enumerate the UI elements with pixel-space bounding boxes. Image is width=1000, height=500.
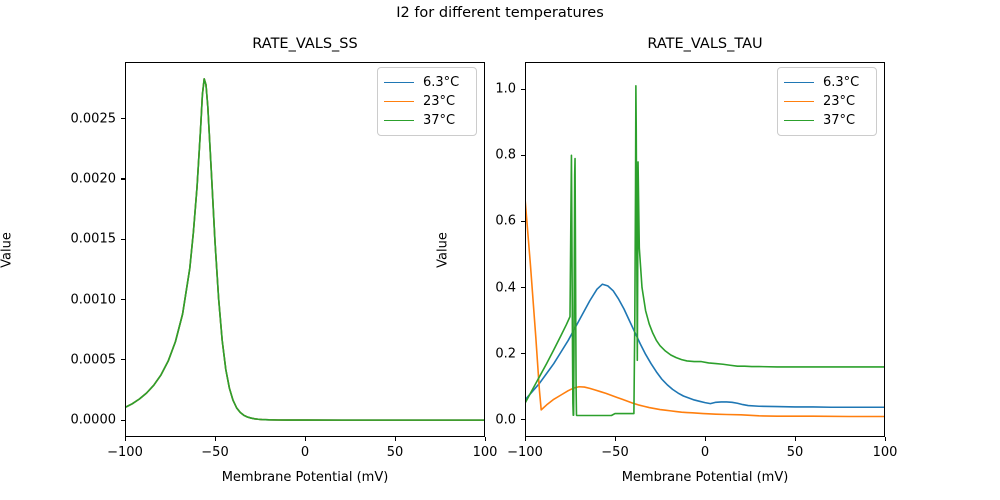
legend-item[interactable]: 23°C (784, 92, 869, 111)
ytick-mark (521, 287, 525, 288)
ytick-label: 0.0000 (15, 413, 116, 428)
xtick-mark (305, 437, 306, 441)
xtick-mark (125, 437, 126, 441)
legend-item[interactable]: 6.3°C (784, 73, 869, 92)
legend-color-swatch (384, 120, 414, 121)
legend-label: 37°C (823, 111, 855, 130)
xtick-mark (885, 437, 886, 441)
xtick-mark (395, 437, 396, 441)
y-axis-label: Value (0, 232, 15, 268)
ytick-mark (521, 221, 525, 222)
ytick-label: 0.0 (415, 412, 516, 427)
matplotlib-figure: I2 for different temperatures RATE_VALS_… (0, 0, 1000, 500)
ytick-mark (521, 89, 525, 90)
xtick-label: 0 (701, 445, 709, 460)
ytick-mark (121, 359, 125, 360)
legend-label: 6.3°C (823, 73, 859, 92)
xtick-mark (705, 437, 706, 441)
legend-color-swatch (784, 120, 814, 121)
xtick-label: 50 (787, 445, 804, 460)
ytick-label: 0.6 (415, 214, 516, 229)
legend-item[interactable]: 37°C (384, 111, 469, 130)
xtick-label: 100 (473, 445, 498, 460)
ytick-label: 0.0025 (15, 111, 116, 126)
xtick-label: −100 (107, 445, 143, 460)
ytick-mark (121, 178, 125, 179)
xtick-label: 100 (873, 445, 898, 460)
xtick-mark (525, 437, 526, 441)
xtick-mark (485, 437, 486, 441)
legend-left: 6.3°C23°C37°C (377, 67, 477, 136)
ytick-mark (521, 155, 525, 156)
legend-label: 23°C (823, 92, 855, 111)
xtick-label: 0 (301, 445, 309, 460)
ytick-label: 0.0010 (15, 292, 116, 307)
ytick-label: 0.2 (415, 346, 516, 361)
legend-color-swatch (784, 82, 814, 83)
xtick-mark (215, 437, 216, 441)
xtick-label: −50 (601, 445, 628, 460)
ytick-label: 0.0015 (15, 232, 116, 247)
ytick-label: 0.8 (415, 148, 516, 163)
xtick-label: −50 (201, 445, 228, 460)
axes-title-right: RATE_VALS_TAU (525, 36, 885, 52)
ytick-mark (121, 239, 125, 240)
legend-item[interactable]: 37°C (784, 111, 869, 130)
ytick-label: 1.0 (415, 82, 516, 97)
y-axis-label: Value (436, 232, 451, 268)
xtick-label: −100 (507, 445, 543, 460)
legend-color-swatch (384, 82, 414, 83)
x-axis-label: Membrane Potential (mV) (125, 470, 485, 485)
ytick-label: 0.0005 (15, 352, 116, 367)
ytick-mark (121, 299, 125, 300)
legend-color-swatch (784, 101, 814, 102)
ytick-mark (521, 419, 525, 420)
legend-right: 6.3°C23°C37°C (777, 67, 877, 136)
xtick-mark (615, 437, 616, 441)
ytick-label: 0.4 (415, 280, 516, 295)
x-axis-label: Membrane Potential (mV) (525, 470, 885, 485)
xtick-label: 50 (387, 445, 404, 460)
legend-label: 37°C (423, 111, 455, 130)
ytick-mark (521, 353, 525, 354)
legend-color-swatch (384, 101, 414, 102)
ytick-mark (121, 420, 125, 421)
xtick-mark (795, 437, 796, 441)
figure-suptitle: I2 for different temperatures (0, 5, 1000, 21)
ytick-mark (121, 118, 125, 119)
ytick-label: 0.0020 (15, 171, 116, 186)
axes-title-left: RATE_VALS_SS (125, 36, 485, 52)
